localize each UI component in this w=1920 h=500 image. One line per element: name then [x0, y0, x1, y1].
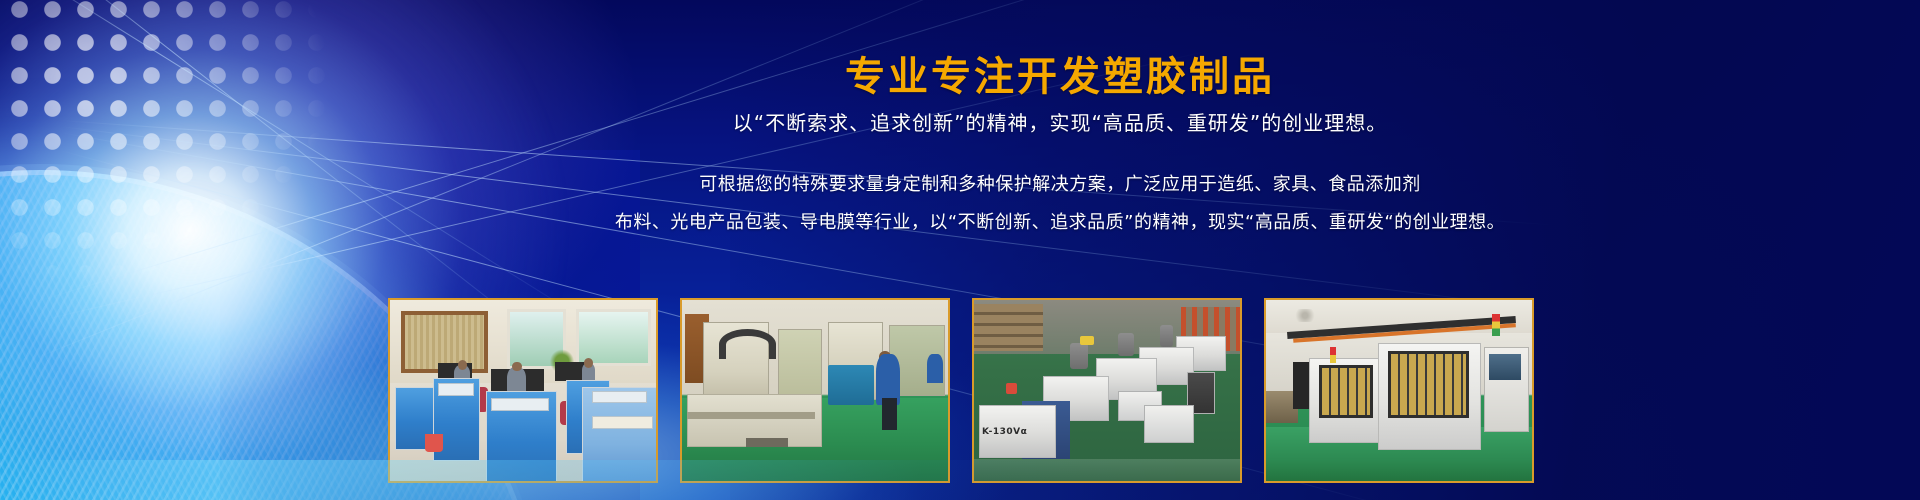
banner-subtitle: 以“不断索求、追求创新”的精神，实现“高品质、重研发”的创业理想。 [0, 107, 1920, 136]
photo-image: K-130Vα [974, 300, 1240, 481]
photo-injection-molding-line[interactable]: K-130Vα [972, 298, 1242, 483]
photo-image [1266, 300, 1532, 481]
factory-photo-strip: K-130Vα [388, 298, 1534, 483]
machine-model-label: K-130Vα [982, 427, 1027, 437]
promo-banner: 专业专注开发塑胶制品 以“不断索求、追求创新”的精神，实现“高品质、重研发”的创… [0, 0, 1920, 500]
banner-body: 可根据您的特殊要求量身定制和多种保护解决方案，广泛应用于造纸、家具、食品添加剂 … [0, 166, 1920, 242]
photo-image [682, 300, 948, 481]
banner-content: 专业专注开发塑胶制品 以“不断索求、追求创新”的精神，实现“高品质、重研发”的创… [0, 0, 1920, 500]
photo-image [390, 300, 656, 481]
page-title: 专业专注开发塑胶制品 [0, 44, 1920, 102]
body-line-1: 可根据您的特殊要求量身定制和多种保护解决方案，广泛应用于造纸、家具、食品添加剂 [200, 166, 1920, 204]
body-line-2: 布料、光电产品包装、导电膜等行业，以“不断创新、追求品质”的精神，现实“高品质、… [200, 204, 1920, 242]
photo-edm-machine-shop[interactable] [680, 298, 950, 483]
photo-office-workstations[interactable] [388, 298, 658, 483]
photo-cnc-machining-centers[interactable] [1264, 298, 1534, 483]
